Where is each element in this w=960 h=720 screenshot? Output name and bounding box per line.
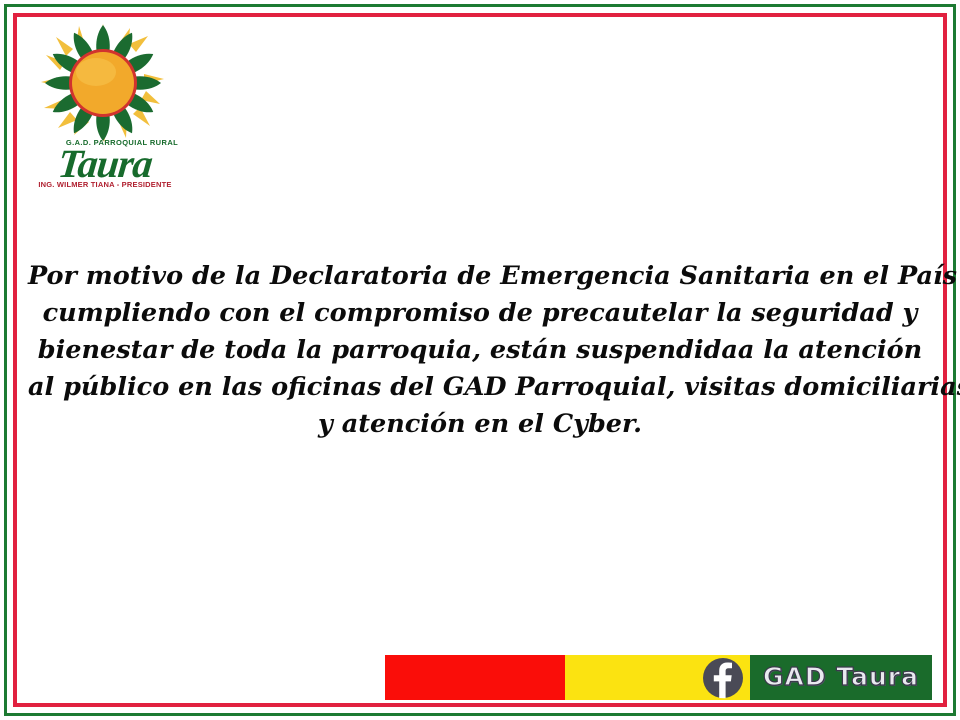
bottom-color-bar: GAD Taura	[385, 655, 932, 700]
sun-with-green-leaves-emblem	[38, 22, 168, 144]
message-line: y atención en el Cyber.	[28, 406, 932, 443]
facebook-icon[interactable]	[702, 657, 744, 699]
logo-text-block: G.A.D. PARROQUIAL RURAL Taura ING. WILME…	[30, 138, 180, 189]
message-line: bienestar de toda la parroquia, están su…	[28, 332, 932, 369]
message-line: al público en las oficinas del GAD Parro…	[28, 369, 932, 406]
message-line: Por motivo de la Declaratoria de Emergen…	[28, 258, 932, 295]
gad-taura-brand-label: GAD Taura	[763, 662, 919, 693]
message-line: cumpliendo con el compromiso de precaute…	[28, 295, 932, 332]
color-band-red	[385, 655, 565, 700]
announcement-message: Por motivo de la Declaratoria de Emergen…	[28, 258, 932, 443]
logo-wordmark: Taura	[28, 145, 182, 183]
color-band-green: GAD Taura	[750, 655, 932, 700]
gad-taura-logo: G.A.D. PARROQUIAL RURAL Taura ING. WILME…	[30, 22, 180, 192]
color-band-yellow	[565, 655, 750, 700]
poster-canvas: G.A.D. PARROQUIAL RURAL Taura ING. WILME…	[0, 0, 960, 720]
